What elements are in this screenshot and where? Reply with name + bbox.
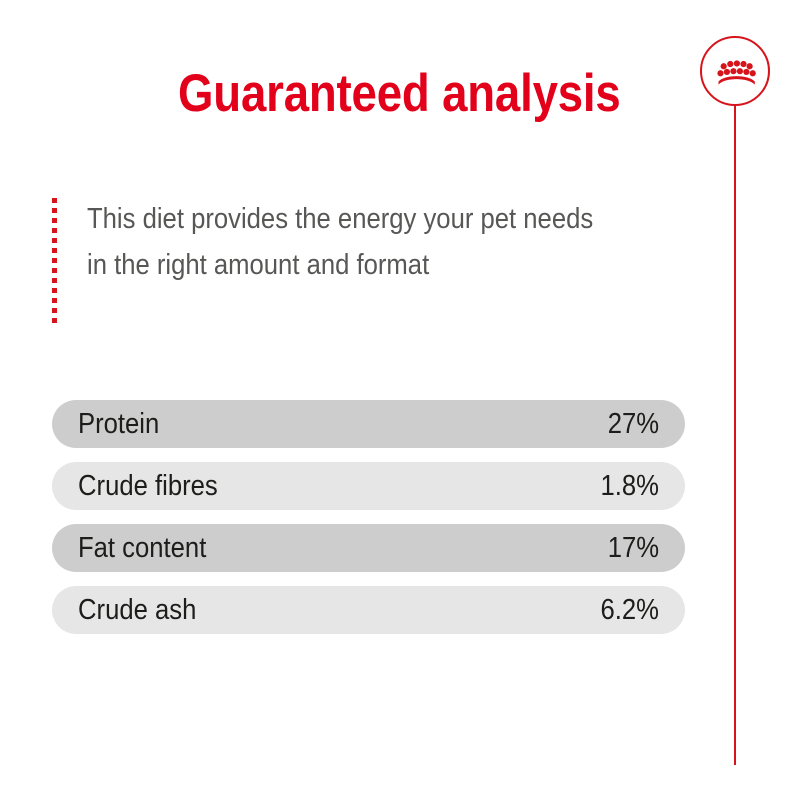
table-row: Crude ash 6.2%: [52, 586, 685, 634]
royal-canin-crown-icon: [700, 36, 770, 106]
nutrient-label: Crude fibres: [78, 471, 218, 501]
page-title: Guaranteed analysis: [178, 64, 621, 124]
nutrient-label: Protein: [78, 409, 159, 439]
dotted-vertical-rule-icon: [52, 198, 57, 322]
vertical-red-rule: [734, 104, 736, 765]
analysis-table: Protein 27% Crude fibres 1.8% Fat conten…: [52, 400, 685, 648]
nutrient-value: 17%: [608, 533, 659, 563]
intro-text: This diet provides the energy your pet n…: [87, 196, 605, 288]
table-row: Protein 27%: [52, 400, 685, 448]
guaranteed-analysis-panel: Guaranteed analysis This diet provides t…: [0, 0, 800, 800]
nutrient-value: 6.2%: [601, 595, 659, 625]
table-row: Fat content 17%: [52, 524, 685, 572]
nutrient-value: 1.8%: [601, 471, 659, 501]
nutrient-label: Crude ash: [78, 595, 196, 625]
nutrient-value: 27%: [608, 409, 659, 439]
table-row: Crude fibres 1.8%: [52, 462, 685, 510]
nutrient-label: Fat content: [78, 533, 206, 563]
